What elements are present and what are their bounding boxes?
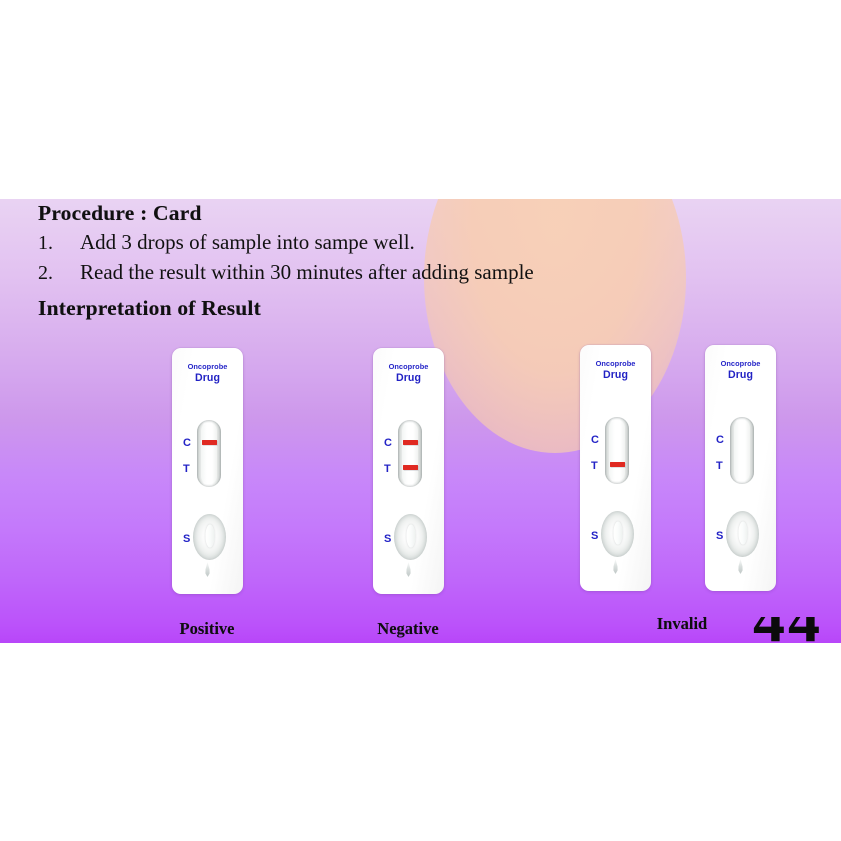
sample-well (726, 511, 759, 557)
control-line-band (202, 440, 217, 445)
product-name-label: Drug (705, 369, 776, 381)
test-cassette-negative: Oncoprobe Drug C T S (373, 348, 444, 594)
test-cassette-invalid-b: Oncoprobe Drug C T S (705, 345, 776, 591)
sample-label: S (716, 530, 723, 542)
result-window-inner (402, 423, 418, 484)
sample-well-inner (738, 522, 747, 545)
result-window-inner (201, 423, 217, 484)
brand-name-label: Oncoprobe (172, 362, 243, 371)
result-caption-positive: Positive (142, 619, 272, 639)
result-window-inner (609, 420, 625, 481)
droplet-icon (612, 559, 619, 574)
product-name-label: Drug (580, 369, 651, 381)
droplet-icon (737, 559, 744, 574)
sample-well (601, 511, 634, 557)
sample-label: S (183, 533, 190, 545)
result-window (730, 417, 754, 484)
sample-well-inner (205, 525, 214, 548)
product-name-label: Drug (172, 372, 243, 384)
result-window-inner (734, 420, 750, 481)
test-line-band (610, 462, 625, 467)
test-label: T (384, 463, 391, 475)
product-name-label: Drug (373, 372, 444, 384)
test-line-band (403, 465, 418, 470)
sample-label: S (384, 533, 391, 545)
sample-well (394, 514, 427, 560)
result-window (398, 420, 422, 487)
droplet-icon (204, 562, 211, 577)
brand-name-label: Oncoprobe (580, 359, 651, 368)
result-window (605, 417, 629, 484)
sample-well-inner (406, 525, 415, 548)
control-label: C (384, 437, 392, 449)
result-caption-negative: Negative (343, 619, 473, 639)
cassette-row: Oncoprobe Drug C T S Oncoprobe Drug (0, 199, 841, 643)
test-label: T (716, 460, 723, 472)
brand-name-label: Oncoprobe (705, 359, 776, 368)
page-root: Procedure : Card 1. Add 3 drops of sampl… (0, 0, 841, 841)
purple-banner: Procedure : Card 1. Add 3 drops of sampl… (0, 199, 841, 643)
sample-well-inner (613, 522, 622, 545)
test-cassette-positive: Oncoprobe Drug C T S (172, 348, 243, 594)
droplet-icon (405, 562, 412, 577)
control-line-band (403, 440, 418, 445)
control-label: C (591, 434, 599, 446)
test-cassette-invalid-a: Oncoprobe Drug C T S (580, 345, 651, 591)
brand-name-label: Oncoprobe (373, 362, 444, 371)
result-caption-invalid: Invalid (617, 614, 747, 634)
sample-label: S (591, 530, 598, 542)
result-window (197, 420, 221, 487)
test-label: T (591, 460, 598, 472)
test-label: T (183, 463, 190, 475)
control-label: C (716, 434, 724, 446)
sample-well (193, 514, 226, 560)
control-label: C (183, 437, 191, 449)
